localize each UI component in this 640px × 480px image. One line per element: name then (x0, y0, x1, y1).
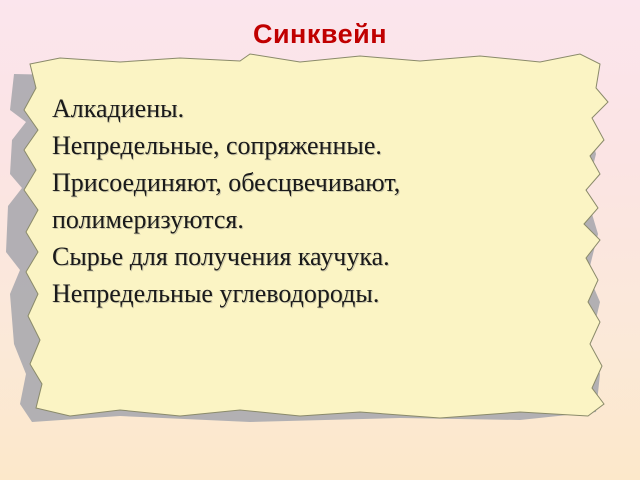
cinquain-line-5: Непредельные углеводороды. (52, 275, 522, 312)
cinquain-line-2: Непредельные, сопряженные. (52, 127, 522, 164)
slide-canvas: Синквейн Алкадиены. Непредельные, сопряж… (0, 0, 640, 480)
cinquain-line-4: Сырье для получения каучука. (52, 238, 522, 275)
cinquain-text-block: Алкадиены. Непредельные, сопряженные. Пр… (52, 90, 522, 312)
cinquain-line-3: Присоединяют, обесцвечивают, полимеризую… (52, 164, 522, 238)
cinquain-line-1: Алкадиены. (52, 90, 522, 127)
torn-paper-panel: Алкадиены. Непредельные, сопряженные. Пр… (0, 44, 640, 444)
